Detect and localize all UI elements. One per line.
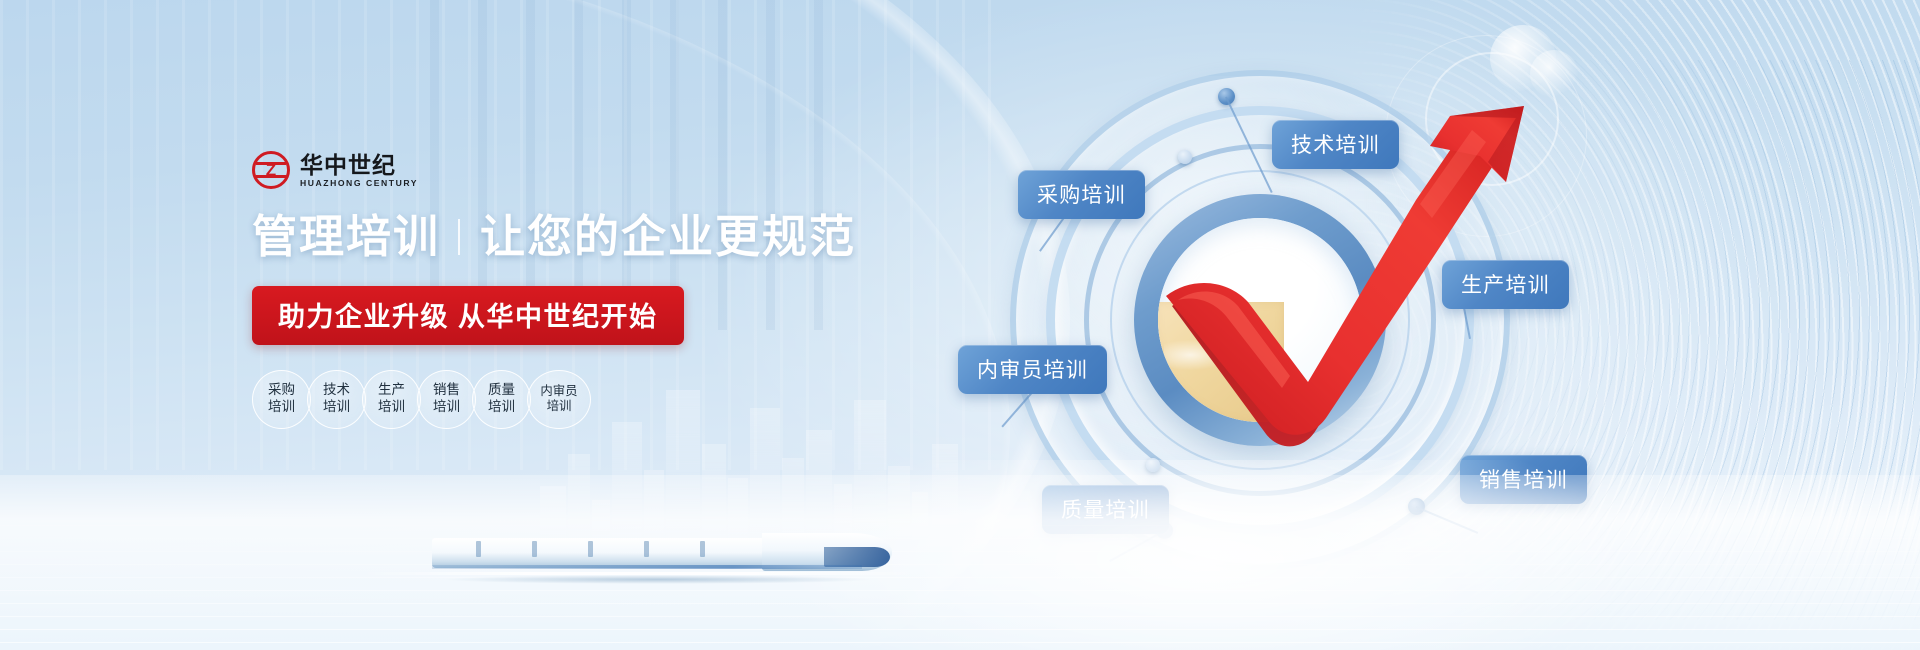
slogan-badge: 助力企业升级 从华中世纪开始 xyxy=(252,286,684,345)
pill-label-line2: 培训 xyxy=(323,399,350,416)
pill-label-line2: 培训 xyxy=(433,399,460,416)
ring-dot-accent-upper xyxy=(1178,150,1192,164)
train-window xyxy=(700,541,705,557)
training-pill-list: 采购培训技术培训生产培训销售培训质量培训内审员培训 xyxy=(252,370,892,429)
training-pill[interactable]: 生产培训 xyxy=(362,370,421,429)
tag-tech-training[interactable]: 技术培训 xyxy=(1272,120,1399,169)
headline-secondary: 让您的企业更规范 xyxy=(480,212,856,262)
training-banner: 技术培训 采购培训 生产培训 内审员培训 销售培训 质量培训 Z 华中世纪 xyxy=(0,0,1920,650)
brand-name-cn: 华中世纪 xyxy=(300,153,418,177)
train-stripe xyxy=(432,565,862,569)
bokeh-circle-small-icon xyxy=(1530,50,1578,98)
pill-label-line1: 销售 xyxy=(433,382,460,399)
train-window xyxy=(532,541,537,557)
headline-divider xyxy=(458,219,460,255)
pill-label-line2: 培训 xyxy=(268,399,295,416)
train-window xyxy=(644,541,649,557)
huazhong-emblem-icon: Z xyxy=(252,151,290,189)
train-windshield xyxy=(824,547,890,567)
brand-logo[interactable]: Z 华中世纪 HUAZHONG CENTURY xyxy=(252,150,892,190)
pill-label-line1: 质量 xyxy=(488,382,515,399)
train-window xyxy=(476,541,481,557)
brand-wordmark: 华中世纪 HUAZHONG CENTURY xyxy=(300,153,418,188)
training-pill[interactable]: 采购培训 xyxy=(252,370,311,429)
headline-primary: 管理培训 xyxy=(252,212,440,262)
tag-production-training[interactable]: 生产培训 xyxy=(1442,260,1569,309)
train-window xyxy=(588,541,593,557)
tag-internal-auditor-training[interactable]: 内审员培训 xyxy=(958,345,1107,394)
ring-core-disc xyxy=(1158,218,1362,422)
training-pill[interactable]: 质量培训 xyxy=(472,370,531,429)
training-pill[interactable]: 内审员培训 xyxy=(527,370,591,429)
pill-label-line2: 培训 xyxy=(547,399,572,415)
bullet-train-icon xyxy=(432,525,892,585)
pill-label-line1: 生产 xyxy=(378,382,405,399)
pill-label-line2: 培训 xyxy=(378,399,405,416)
banner-content: Z 华中世纪 HUAZHONG CENTURY 管理培训 让您的企业更规范 助力… xyxy=(252,150,892,429)
brand-name-en: HUAZHONG CENTURY xyxy=(300,179,418,188)
pill-label-line1: 采购 xyxy=(268,382,295,399)
pill-label-line1: 技术 xyxy=(323,382,350,399)
floor-glow xyxy=(760,460,1660,650)
core-gold-highlight xyxy=(1164,340,1230,370)
tag-purchasing-training[interactable]: 采购培训 xyxy=(1018,170,1145,219)
training-pill[interactable]: 销售培训 xyxy=(417,370,476,429)
pill-label-line1: 内审员 xyxy=(540,384,577,400)
emblem-letter: Z xyxy=(255,162,287,179)
page-title: 管理培训 让您的企业更规范 xyxy=(252,212,892,262)
pill-label-line2: 培训 xyxy=(488,399,515,416)
train-shadow xyxy=(442,575,872,584)
training-pill[interactable]: 技术培训 xyxy=(307,370,366,429)
train-body xyxy=(432,538,782,568)
